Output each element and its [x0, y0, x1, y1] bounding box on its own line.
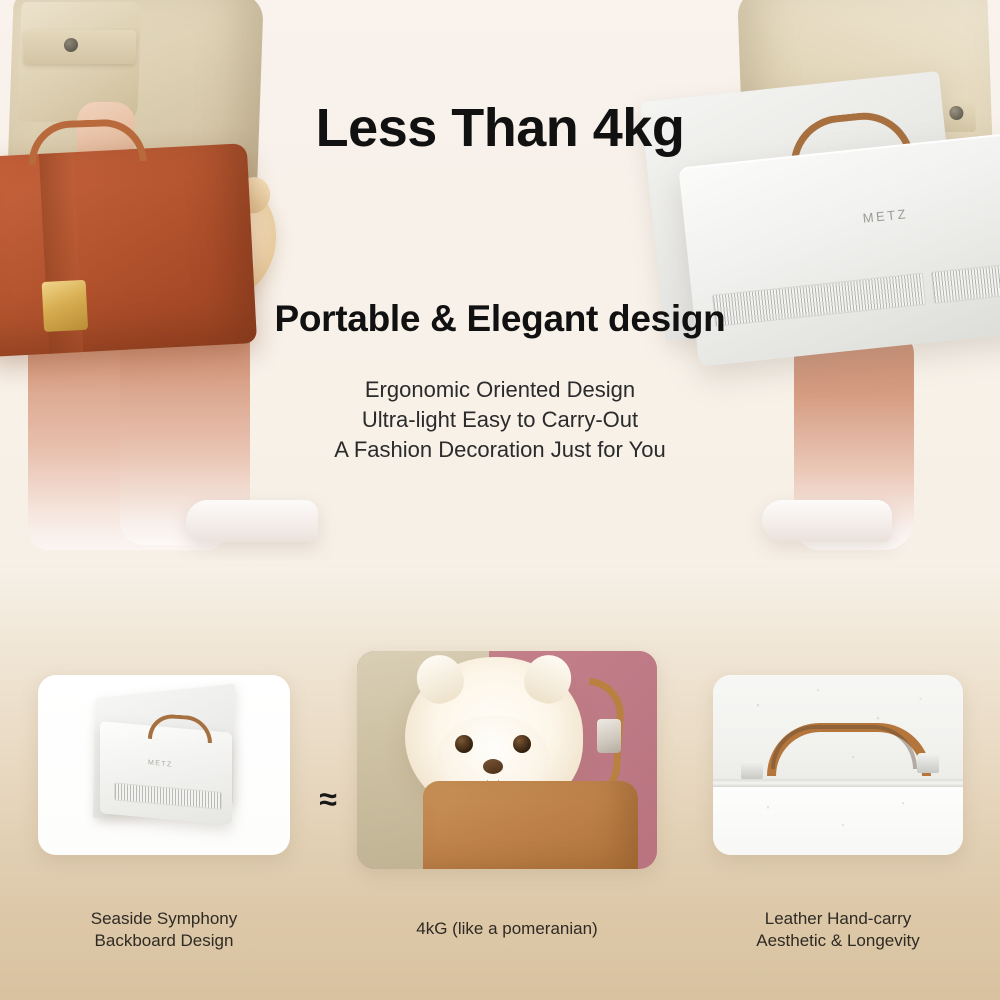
- handle-mount-left-icon: [741, 761, 763, 779]
- caption-leather-handle: Leather Hand-carry Aesthetic & Longevity: [713, 908, 963, 952]
- caption-pomeranian-weight: 4kG (like a pomeranian): [357, 918, 657, 940]
- hero-photo-left-briefcase-dog: [0, 0, 330, 560]
- feature-body-copy: Ergonomic Oriented Design Ultra-light Ea…: [0, 375, 1000, 465]
- card-pomeranian-weight[interactable]: [357, 651, 657, 869]
- caption-3-line-2: Aesthetic & Longevity: [713, 930, 963, 952]
- dog-eye-left-card2: [455, 735, 473, 753]
- handle-mount-right-icon: [917, 753, 939, 773]
- card-leather-handle[interactable]: [713, 675, 963, 855]
- body-line-3: A Fashion Decoration Just for You: [0, 435, 1000, 465]
- card-captions-row: Seaside Symphony Backboard Design 4kG (l…: [0, 900, 1000, 970]
- caption-1-line-2: Backboard Design: [38, 930, 290, 952]
- coat-cuff-left: [23, 30, 136, 64]
- handbag-clasp-icon: [597, 719, 621, 753]
- shoe-right: [762, 500, 892, 542]
- shoe-left: [186, 500, 318, 542]
- caption-2-line-1: 4kG (like a pomeranian): [357, 918, 657, 940]
- metz-logo: METZ: [862, 206, 909, 226]
- product-marketing-page: METZ Less Than 4kg Portable & Elegant de…: [0, 0, 1000, 1000]
- caption-1-line-1: Seaside Symphony: [38, 908, 290, 930]
- page-subheading: Portable & Elegant design: [0, 298, 1000, 340]
- caption-3-line-1: Leather Hand-carry: [713, 908, 963, 930]
- approximately-equal-icon: ≈: [308, 783, 348, 815]
- caption-backboard-design: Seaside Symphony Backboard Design: [38, 908, 290, 952]
- body-line-2: Ultra-light Easy to Carry-Out: [0, 405, 1000, 435]
- dog-nose-card2: [483, 759, 503, 774]
- leather-handle-shading: [771, 725, 917, 769]
- hero-photo-right-monitor: METZ: [670, 0, 1000, 560]
- dog-eye-right-card2: [513, 735, 531, 753]
- metz-logo-card: METZ: [148, 759, 173, 768]
- card-backboard-design[interactable]: METZ: [38, 675, 290, 855]
- feature-cards-row: METZ ≈: [0, 645, 1000, 895]
- tan-leather-handbag: [423, 781, 638, 869]
- monitor-vent-grille-card: [114, 782, 222, 809]
- speckled-surface-bottom: [713, 787, 963, 855]
- body-line-1: Ergonomic Oriented Design: [0, 375, 1000, 405]
- page-headline: Less Than 4kg: [0, 97, 1000, 159]
